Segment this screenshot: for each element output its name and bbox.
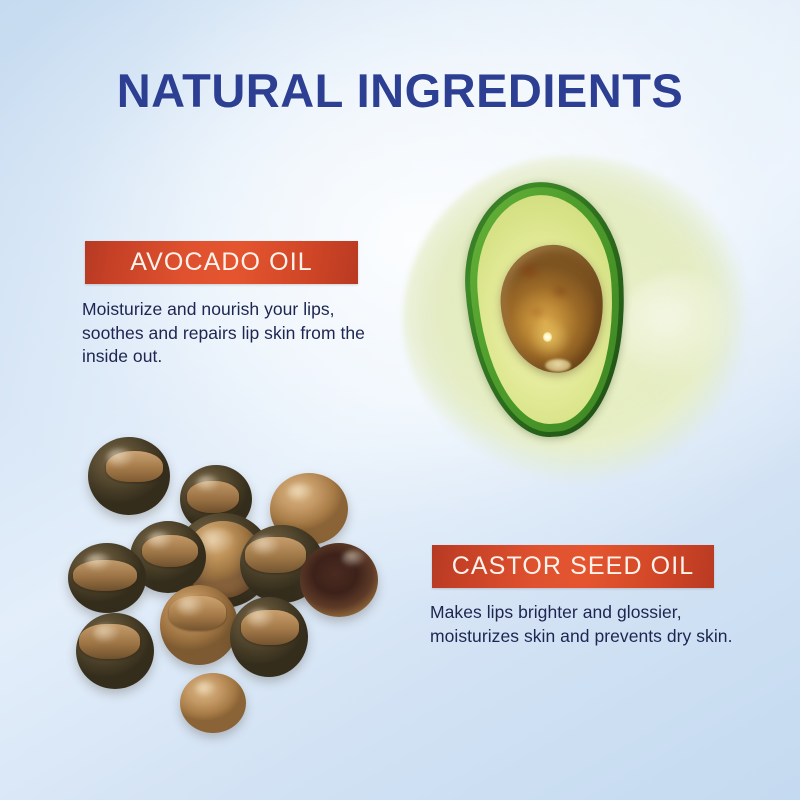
avocado-oil-photo (395, 152, 765, 502)
nut (300, 543, 378, 617)
nut (76, 613, 154, 689)
ingredient-label-avocado-oil: AVOCADO OIL (85, 241, 358, 284)
ingredient-description-avocado-oil: Moisturize and nourish your lips, soothe… (82, 298, 387, 369)
nut (68, 543, 146, 613)
nut (230, 597, 308, 677)
avocado-pit-highlight (543, 332, 552, 342)
natural-ingredients-poster: NATURAL INGREDIENTS AVOCADO OIL Moisturi… (0, 0, 800, 800)
nut (88, 437, 170, 515)
page-title: NATURAL INGREDIENTS (0, 63, 800, 118)
avocado-pit-scar (545, 359, 571, 372)
nut (180, 673, 246, 733)
ingredient-description-castor-seed-oil: Makes lips brighter and glossier, moistu… (430, 601, 750, 648)
oil-gloss-highlight (620, 272, 740, 382)
nut (160, 585, 238, 665)
ingredient-label-castor-seed-oil: CASTOR SEED OIL (432, 545, 714, 588)
castor-seed-oil-photo (62, 425, 392, 725)
